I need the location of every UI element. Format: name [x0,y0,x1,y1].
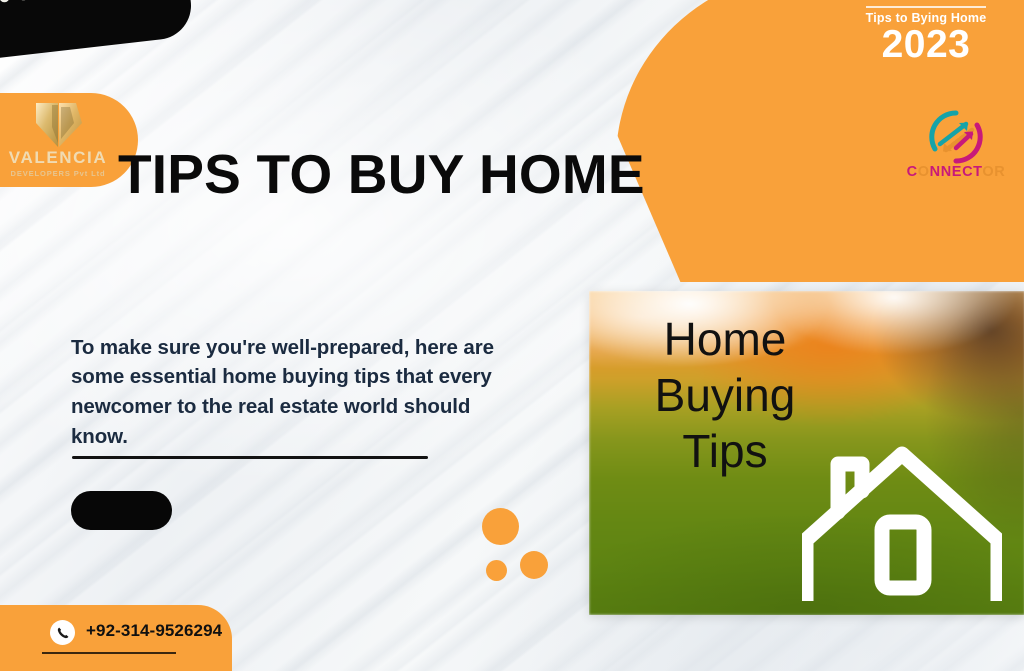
connector-letter: N [930,164,941,180]
connector-letter: C [962,164,973,180]
connector-letter: N [941,164,952,180]
vd-monogram-icon [26,97,90,151]
page-title: TIPS TO BUY HOME [118,147,678,202]
dot-small [486,560,507,581]
dot-medium [520,551,548,579]
phone-number[interactable]: +92-314-9526294 [86,621,222,641]
year-divider-line [866,6,986,8]
circular-exchange-arrows-icon [926,108,986,166]
valencia-logo-subtitle: DEVELOPERS Pvt Ltd [0,169,116,178]
poster-canvas: Tips to Bying Home 2023 VALENCIA DEVELOP… [0,0,1024,671]
hero-image-card: Home Buying Tips [589,291,1024,615]
connector-letter: O [982,164,994,180]
connector-letter: E [952,164,962,180]
year-number: 2023 [838,25,1014,66]
footer-underline [42,652,176,654]
hero-caption-line-2: Buying [615,367,835,423]
connector-logo: CONNECTOR [900,108,1012,192]
body-paragraph: To make sure you're well-prepared, here … [71,333,501,453]
phone-glyph [56,626,70,640]
connector-letter: R [994,164,1005,180]
dot-small [0,0,9,2]
black-banner-dot-cluster [0,0,56,10]
valencia-logo-inner: VALENCIA DEVELOPERS Pvt Ltd [0,93,116,187]
cta-pill-button[interactable] [71,491,172,530]
house-outline-icon [802,416,1002,601]
valencia-logo-name: VALENCIA [0,148,116,168]
dot-large [482,508,519,545]
connector-letter: T [973,164,982,180]
phone-handset-icon [50,620,75,645]
connector-letter: C [907,164,918,180]
connector-letter: O [918,164,930,180]
connector-wordmark: CONNECTOR [900,164,1012,180]
hero-caption-line-1: Home [615,311,835,367]
body-divider-line [72,456,428,459]
